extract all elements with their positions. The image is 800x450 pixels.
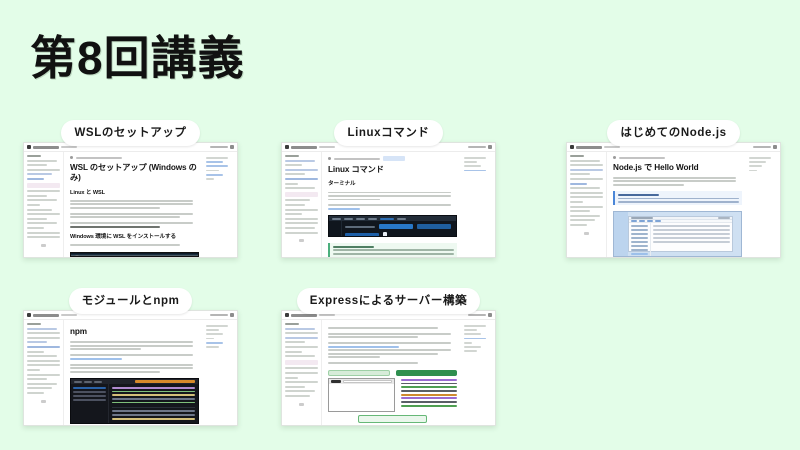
doc-paragraph: [328, 327, 457, 329]
sidebar-item[interactable]: [27, 232, 60, 234]
sidebar-item-active[interactable]: [285, 178, 318, 180]
sidebar-item[interactable]: [285, 346, 318, 348]
topbar-right-group: [210, 145, 234, 149]
toc-item[interactable]: [464, 165, 481, 167]
sidebar-item[interactable]: [27, 222, 57, 224]
sidebar-collapse-icon[interactable]: [584, 232, 589, 235]
thumbnail-modules-npm[interactable]: npm: [23, 310, 238, 426]
toc-item[interactable]: [464, 329, 477, 331]
breadcrumb-path: [334, 158, 380, 160]
sidebar-item[interactable]: [285, 386, 305, 388]
vscode-explorer-pane[interactable]: [71, 384, 109, 423]
site-logo-text: [33, 146, 59, 149]
sidebar-item[interactable]: [27, 341, 47, 343]
toc-item[interactable]: [464, 338, 486, 340]
text-line: [70, 364, 193, 366]
sidebar-item[interactable]: [27, 213, 60, 215]
sidebar-item[interactable]: [570, 219, 595, 221]
code-line: [401, 390, 457, 392]
window-controls-icon[interactable]: [718, 217, 730, 219]
sidebar-item[interactable]: [570, 210, 590, 212]
sidebar-item[interactable]: [285, 222, 318, 224]
site-logo-icon: [285, 145, 289, 149]
browser-tab: [331, 380, 341, 383]
text-line: [328, 333, 451, 335]
express-request-response-diagram: Expressは、アクセスにレスポンスを返却する: [328, 370, 457, 426]
mouse-cursor-icon: [383, 232, 387, 237]
sidebar-item[interactable]: [27, 195, 47, 197]
topbar-right-group: [468, 313, 492, 317]
sidebar-item[interactable]: [285, 187, 315, 189]
text-line: [70, 354, 193, 356]
vscode-warning-banner: [135, 380, 195, 383]
card-label-linux-commands: Linuxコマンド: [334, 120, 442, 146]
topbar-right-group: [753, 145, 777, 149]
terminal-sidebar: [329, 221, 342, 236]
sidebar-item[interactable]: [27, 355, 57, 357]
code-line: [401, 405, 457, 407]
sidebar-item[interactable]: [27, 378, 47, 380]
sidebar-item[interactable]: [570, 178, 603, 180]
toc-item[interactable]: [464, 170, 486, 172]
code-line: [401, 383, 457, 385]
doc-table-of-contents[interactable]: [746, 152, 780, 257]
toc-item[interactable]: [749, 170, 757, 172]
terminal-label-highlighted: [345, 233, 379, 237]
home-icon[interactable]: [328, 157, 331, 160]
text-line: [70, 345, 193, 347]
explorer-file[interactable]: [73, 395, 106, 397]
callout-text-line: [333, 249, 454, 251]
card-express-server[interactable]: Expressによるサーバー構築: [281, 288, 496, 426]
nav-item[interactable]: [631, 245, 648, 247]
doc-paragraph: [613, 177, 742, 186]
site-logo-text: [33, 314, 59, 317]
sidebar-item[interactable]: [27, 227, 44, 229]
sidebar-item[interactable]: [285, 173, 305, 175]
toc-item[interactable]: [206, 161, 223, 163]
file-row[interactable]: [653, 225, 730, 227]
code-block: [401, 378, 457, 407]
sidebar-item[interactable]: [285, 337, 318, 339]
sidebar-item[interactable]: [27, 351, 44, 353]
sidebar-item[interactable]: [285, 351, 302, 353]
sidebar-item[interactable]: [285, 328, 315, 330]
sidebar-item[interactable]: [285, 218, 318, 220]
sidebar-item[interactable]: [285, 232, 318, 234]
text-line: [328, 195, 451, 197]
thumbnail-hello-nodejs[interactable]: Node.js で Hello World: [566, 142, 781, 258]
breadcrumb[interactable]: [70, 156, 199, 159]
menu-item[interactable]: [368, 218, 377, 220]
doc-paragraph: [70, 244, 199, 246]
card-label-express-server: Expressによるサーバー構築: [297, 288, 480, 314]
doc-table-of-contents[interactable]: [203, 320, 237, 425]
topbar-menu-icon: [488, 145, 492, 149]
card-modules-npm[interactable]: モジュールとnpm: [23, 288, 238, 426]
sidebar-item[interactable]: [27, 383, 57, 385]
sidebar-item[interactable]: [285, 183, 298, 185]
toc-item[interactable]: [206, 333, 223, 335]
sidebar-item[interactable]: [570, 169, 603, 171]
text-line: [70, 367, 193, 369]
vscode-editor[interactable]: [109, 384, 198, 423]
card-linux-commands[interactable]: Linuxコマンド: [281, 120, 496, 258]
page-title: 第8回講義: [30, 22, 245, 88]
text-line: [70, 213, 193, 215]
text-line: [328, 327, 438, 329]
text-line: [70, 341, 193, 343]
card-label-wsl-setup: WSLのセットアップ: [61, 120, 199, 146]
topbar-search-icon: [753, 146, 771, 149]
topbar-nav-placeholder: [319, 314, 335, 316]
explorer-file[interactable]: [73, 391, 106, 393]
topbar-menu-icon: [230, 145, 234, 149]
card-hello-nodejs[interactable]: はじめてのNode.js: [566, 120, 781, 258]
doc-body: Expressは、アクセスにレスポンスを返却する: [282, 320, 495, 425]
menu-item[interactable]: [397, 218, 406, 220]
terminal-secondary-button[interactable]: [417, 224, 451, 229]
vscode-screenshot[interactable]: [70, 378, 199, 424]
vscode-menu-item[interactable]: [74, 381, 82, 383]
site-logo-text: [291, 146, 317, 149]
text-link[interactable]: [328, 208, 360, 210]
sidebar-collapse-icon[interactable]: [299, 239, 304, 242]
breadcrumb-path: [76, 157, 122, 159]
card-wsl-setup[interactable]: WSLのセットアップ: [23, 120, 238, 258]
sidebar-section-caption: [285, 155, 299, 157]
sidebar-item[interactable]: [570, 206, 603, 208]
text-line: [328, 342, 451, 344]
sidebar-item[interactable]: [285, 395, 310, 397]
text-line: [70, 200, 193, 202]
doc-heading-1: Linux コマンド: [328, 165, 457, 175]
sidebar-item[interactable]: [285, 377, 298, 379]
topbar-nav-placeholder: [61, 146, 77, 148]
sidebar-item[interactable]: [285, 160, 315, 162]
vscode-terminal-panel[interactable]: [112, 407, 195, 420]
sidebar-item[interactable]: [285, 381, 318, 383]
doc-sidebar[interactable]: [24, 152, 64, 257]
text-line: [70, 203, 193, 205]
doc-paragraph: [70, 341, 199, 350]
text-line: [70, 207, 160, 209]
thumbnail-express-server[interactable]: Expressは、アクセスにレスポンスを返却する: [281, 310, 496, 426]
toc-item[interactable]: [464, 342, 472, 344]
explorer-file-selected[interactable]: [73, 387, 106, 389]
sidebar-item[interactable]: [27, 364, 60, 366]
diagram-arrow-callout: [358, 415, 428, 423]
menu-item[interactable]: [332, 218, 341, 220]
browser-viewport: [329, 384, 394, 411]
toolbar-button[interactable]: [647, 220, 653, 222]
explorer-nav-pane[interactable]: [629, 223, 651, 257]
doc-table-of-contents[interactable]: [203, 152, 237, 257]
info-callout: [328, 243, 457, 257]
code-line: [401, 394, 457, 396]
site-logo-icon: [27, 313, 31, 317]
nav-item-selected[interactable]: [631, 253, 648, 255]
toc-item[interactable]: [464, 161, 477, 163]
callout-text-line: [618, 201, 739, 203]
menu-item[interactable]: [356, 218, 365, 220]
topbar-search-icon: [468, 146, 486, 149]
sidebar-item[interactable]: [285, 372, 318, 374]
code-line: [112, 387, 195, 389]
toc-item[interactable]: [206, 338, 214, 340]
terminal-line: [112, 418, 195, 420]
doc-main: WSL のセットアップ (Windows のみ) Linux と WSL Win…: [64, 152, 203, 257]
code-line: [401, 397, 457, 399]
video-thumbnail[interactable]: 18:31: [70, 252, 199, 257]
topbar-search-icon: [210, 314, 228, 317]
explorer-file[interactable]: [73, 399, 106, 401]
sidebar-section-caption: [570, 155, 584, 157]
text-line: [328, 349, 451, 351]
topbar-search-icon: [468, 314, 486, 317]
sidebar-item[interactable]: [570, 201, 583, 203]
doc-sidebar[interactable]: [24, 320, 64, 425]
sidebar-item[interactable]: [27, 199, 57, 201]
sidebar-item[interactable]: [285, 390, 315, 392]
nav-item[interactable]: [631, 225, 648, 227]
toc-item[interactable]: [206, 170, 219, 172]
sidebar-item[interactable]: [570, 160, 600, 162]
terminal-primary-button[interactable]: [379, 224, 413, 229]
text-line: [328, 353, 438, 355]
doc-heading-1: Node.js で Hello World: [613, 163, 742, 173]
doc-heading-2: ターミナル: [328, 179, 457, 187]
toc-item[interactable]: [206, 346, 219, 348]
breadcrumb-current-tag: [383, 156, 405, 161]
sidebar-item[interactable]: [27, 337, 60, 339]
sidebar-item-highlight[interactable]: [285, 360, 318, 365]
topbar-nav-placeholder: [604, 146, 620, 148]
sidebar-item[interactable]: [285, 199, 310, 201]
terminal-line: [112, 414, 195, 416]
sidebar-item[interactable]: [285, 355, 315, 357]
code-line: [112, 391, 195, 393]
sidebar-item[interactable]: [570, 215, 600, 217]
sidebar-item[interactable]: [27, 360, 60, 362]
browser-window-mock: [328, 378, 395, 412]
callout-text-line: [333, 253, 454, 255]
file-row[interactable]: [653, 229, 730, 231]
video-taskbar: [71, 252, 198, 256]
toc-item[interactable]: [206, 174, 223, 176]
sidebar-item[interactable]: [27, 236, 60, 238]
sidebar-item[interactable]: [285, 341, 305, 343]
sidebar-item-active[interactable]: [27, 346, 60, 348]
doc-paragraph: [70, 364, 199, 373]
sidebar-item[interactable]: [27, 392, 44, 394]
terminal-label: [345, 226, 375, 228]
terminal-line: [112, 410, 195, 412]
doc-paragraph: [328, 342, 457, 358]
toc-heading: [464, 157, 486, 159]
sidebar-item[interactable]: [285, 332, 318, 334]
sidebar-item[interactable]: [570, 187, 600, 189]
file-row[interactable]: [653, 237, 730, 239]
diagram-caption: Expressは、アクセスにレスポンスを返却する: [328, 425, 457, 426]
doc-main: Linux コマンド ターミナル: [322, 152, 461, 257]
toc-item[interactable]: [464, 333, 481, 335]
sidebar-item[interactable]: [285, 209, 318, 211]
topbar-right-group: [210, 313, 234, 317]
toc-item[interactable]: [206, 165, 228, 167]
nav-item[interactable]: [631, 241, 648, 243]
sidebar-item[interactable]: [27, 173, 52, 175]
home-icon[interactable]: [613, 156, 616, 159]
sidebar-collapse-icon[interactable]: [41, 244, 46, 247]
text-link[interactable]: [70, 358, 122, 360]
text-line: [70, 222, 193, 224]
sidebar-item[interactable]: [27, 369, 40, 371]
diagram-tag-request: [328, 370, 390, 376]
sidebar-item-highlight[interactable]: [285, 192, 318, 197]
doc-body: Linux コマンド ターミナル: [282, 152, 495, 257]
home-icon[interactable]: [70, 156, 73, 159]
text-line-bold: [70, 226, 160, 228]
site-logo-icon: [570, 145, 574, 149]
text-line: [70, 244, 180, 246]
sidebar-item[interactable]: [27, 190, 60, 192]
doc-paragraph: [328, 204, 457, 209]
toc-item[interactable]: [464, 350, 477, 352]
text-link[interactable]: [328, 346, 399, 348]
sidebar-item[interactable]: [27, 164, 47, 166]
toc-item[interactable]: [206, 342, 223, 344]
text-line: [613, 180, 736, 182]
sidebar-item[interactable]: [27, 332, 60, 334]
menu-item[interactable]: [344, 218, 353, 220]
terminal-panel: [342, 221, 456, 236]
sidebar-section-caption: [285, 323, 299, 325]
doc-paragraph: [328, 192, 457, 201]
sidebar-section-caption: [27, 155, 41, 157]
sidebar-item[interactable]: [27, 374, 60, 376]
code-line: [401, 379, 457, 381]
doc-table-of-contents[interactable]: [461, 152, 495, 257]
vscode-menu-item[interactable]: [84, 381, 92, 383]
toolbar-button[interactable]: [655, 220, 661, 222]
vscode-menu-item[interactable]: [94, 381, 102, 383]
sidebar-item[interactable]: [285, 204, 305, 206]
nav-item[interactable]: [631, 233, 648, 235]
sidebar-item[interactable]: [570, 196, 603, 198]
toc-item[interactable]: [206, 178, 214, 180]
text-line: [70, 216, 180, 218]
toolbar-button[interactable]: [631, 220, 637, 222]
file-row[interactable]: [653, 241, 730, 243]
doc-sidebar[interactable]: [567, 152, 607, 257]
text-line: [70, 348, 141, 350]
sidebar-section-caption: [27, 323, 41, 325]
breadcrumb[interactable]: [613, 156, 742, 159]
doc-heading-1: npm: [70, 327, 199, 337]
explorer-window[interactable]: [628, 216, 733, 252]
doc-paragraph: [70, 222, 199, 227]
sidebar-item[interactable]: [27, 209, 52, 211]
toc-item[interactable]: [749, 165, 762, 167]
doc-paragraph: [70, 213, 199, 218]
menu-item-selected[interactable]: [380, 218, 394, 220]
sidebar-item-active[interactable]: [27, 178, 44, 180]
diagram-tag-row: [328, 370, 457, 376]
topbar-menu-icon: [773, 145, 777, 149]
code-line: [112, 398, 195, 400]
sidebar-item[interactable]: [27, 160, 57, 162]
code-line: [401, 401, 457, 403]
sidebar-item[interactable]: [285, 213, 302, 215]
doc-sidebar[interactable]: [282, 152, 322, 257]
doc-table-of-contents[interactable]: [461, 320, 495, 425]
vscode-body: [71, 384, 198, 423]
explorer-file-list[interactable]: [651, 223, 732, 257]
file-row[interactable]: [653, 233, 730, 235]
text-line: [328, 362, 418, 364]
nav-item[interactable]: [631, 229, 648, 231]
callout-text-line: [618, 198, 739, 200]
toc-heading: [206, 325, 228, 327]
sidebar-item[interactable]: [285, 367, 318, 369]
nav-item[interactable]: [631, 237, 648, 239]
diagram-main-row: [328, 378, 457, 412]
sidebar-item[interactable]: [27, 328, 57, 330]
sidebar-collapse-icon[interactable]: [299, 403, 304, 406]
sidebar-item[interactable]: [570, 192, 603, 194]
toc-item[interactable]: [464, 346, 481, 348]
sidebar-collapse-icon[interactable]: [41, 400, 46, 403]
topbar-search-icon: [210, 146, 228, 149]
thumbnail-linux-commands[interactable]: Linux コマンド ターミナル: [281, 142, 496, 258]
sidebar-item-highlight[interactable]: [27, 183, 60, 188]
toc-item[interactable]: [749, 161, 766, 163]
nav-item[interactable]: [631, 249, 648, 251]
toolbar-button[interactable]: [639, 220, 645, 222]
sidebar-item[interactable]: [27, 169, 60, 171]
thumbnail-wsl-setup[interactable]: WSL のセットアップ (Windows のみ) Linux と WSL Win…: [23, 142, 238, 258]
breadcrumb-path: [619, 157, 665, 159]
doc-main: Expressは、アクセスにレスポンスを返却する: [322, 320, 461, 425]
doc-body: Node.js で Hello World: [567, 152, 780, 257]
sidebar-item[interactable]: [570, 224, 587, 226]
sidebar-item-active[interactable]: [570, 183, 587, 185]
sidebar-item[interactable]: [570, 173, 590, 175]
text-line: [328, 192, 451, 194]
callout-heading: [333, 246, 374, 248]
sidebar-item[interactable]: [570, 164, 603, 166]
windows-explorer-screenshot[interactable]: [613, 211, 742, 257]
sidebar-item[interactable]: [27, 218, 47, 220]
breadcrumb[interactable]: [328, 156, 457, 161]
doc-main: Node.js で Hello World: [607, 152, 746, 257]
text-line: [328, 356, 380, 358]
sidebar-item[interactable]: [285, 164, 302, 166]
toc-heading: [206, 157, 228, 159]
text-line: [328, 336, 418, 338]
callout-heading: [618, 194, 659, 196]
doc-sidebar[interactable]: [282, 320, 322, 425]
site-logo-icon: [285, 313, 289, 317]
sidebar-item[interactable]: [27, 387, 52, 389]
toc-item[interactable]: [206, 329, 219, 331]
sidebar-item[interactable]: [285, 227, 315, 229]
sidebar-item[interactable]: [285, 169, 318, 171]
sidebar-item[interactable]: [27, 204, 40, 206]
terminal-screenshot[interactable]: [328, 215, 457, 237]
terminal-row: [345, 232, 453, 237]
